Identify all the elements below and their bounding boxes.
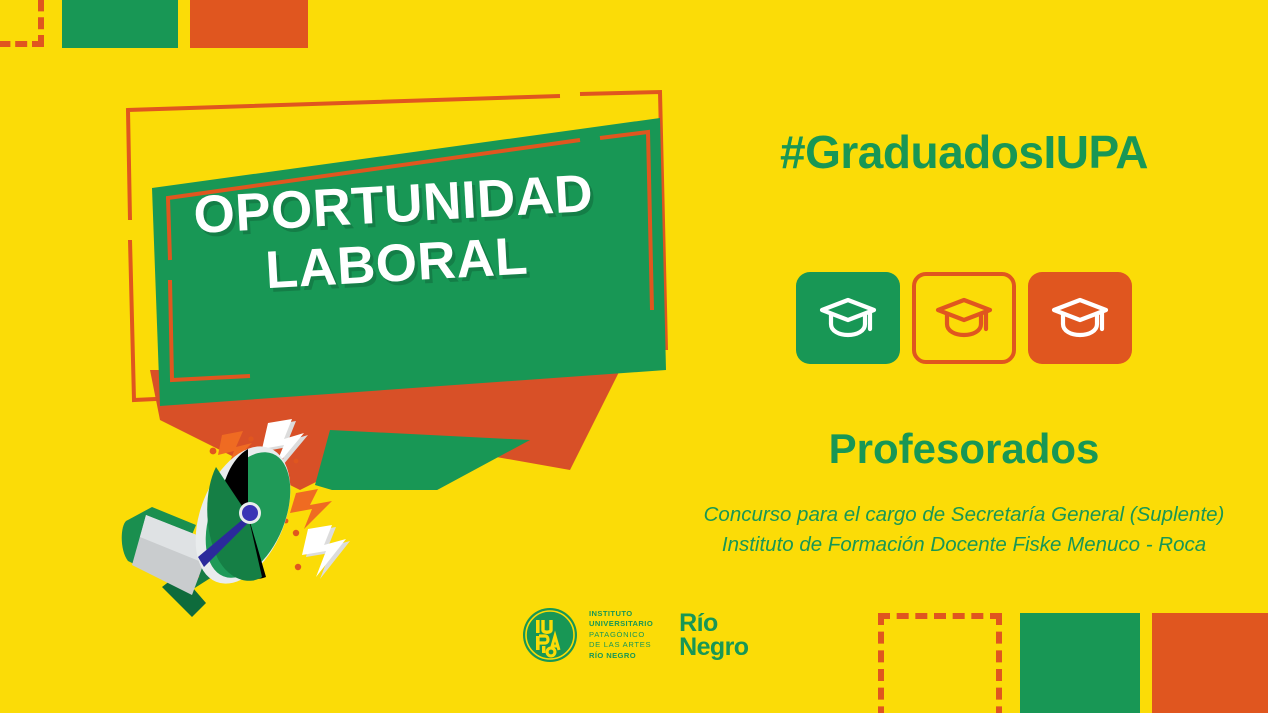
iupa-emblem-icon xyxy=(520,605,580,665)
graduation-cap-tile-orange xyxy=(1028,272,1132,364)
rio-negro-line-1: Río xyxy=(679,611,748,636)
subtitle-block: Concurso para el cargo de Secretaría Gen… xyxy=(660,500,1268,559)
poster-canvas: OPORTUNIDAD LABORAL xyxy=(0,0,1268,713)
green-block-top-left xyxy=(62,0,178,48)
subtitle-line-2: Instituto de Formación Docente Fiske Men… xyxy=(660,530,1268,560)
bolt-orange-right xyxy=(290,489,332,529)
right-content-column: #GraduadosIUPA xyxy=(660,0,1268,713)
iupa-word-line-5: RÍO NEGRO xyxy=(589,651,653,661)
spark-dot xyxy=(210,448,217,455)
iupa-word-line-1: INSTITUTO xyxy=(589,609,653,619)
iupa-word-line-2: UNIVERSITARIO xyxy=(589,619,653,629)
rio-negro-line-2: Negro xyxy=(679,635,748,660)
graduation-cap-tile-outline xyxy=(912,272,1016,364)
iupa-logo: INSTITUTO UNIVERSITARIO PATAGÓNICO DE LA… xyxy=(520,605,653,665)
footer-logos: INSTITUTO UNIVERSITARIO PATAGÓNICO DE LA… xyxy=(520,605,748,665)
graduation-cap-tiles xyxy=(660,272,1268,364)
profesorados-heading: Profesorados xyxy=(660,425,1268,473)
spark-dot xyxy=(295,564,301,570)
graduation-cap-icon-orange xyxy=(1051,296,1109,340)
megaphone-center-dot xyxy=(242,505,258,521)
iupa-word-line-4: DE LAS ARTES xyxy=(589,640,653,650)
hashtag-graduados-iupa: #GraduadosIUPA xyxy=(660,125,1268,179)
graduation-cap-tile-green xyxy=(796,272,900,364)
subtitle-line-1: Concurso para el cargo de Secretaría Gen… xyxy=(660,500,1268,530)
dashed-square-outline-top-left xyxy=(0,0,44,47)
iupa-wordmark: INSTITUTO UNIVERSITARIO PATAGÓNICO DE LA… xyxy=(589,609,653,661)
megaphone-icon xyxy=(100,405,400,625)
orange-block-top-left xyxy=(190,0,308,48)
iupa-word-line-3: PATAGÓNICO xyxy=(589,630,653,640)
spark-dot xyxy=(293,530,299,536)
spark-dot xyxy=(294,459,299,464)
graduation-cap-icon-outline xyxy=(935,296,993,340)
graduation-cap-icon-green xyxy=(819,296,877,340)
spark-dot xyxy=(248,436,253,441)
rio-negro-logo: Río Negro xyxy=(679,611,748,660)
